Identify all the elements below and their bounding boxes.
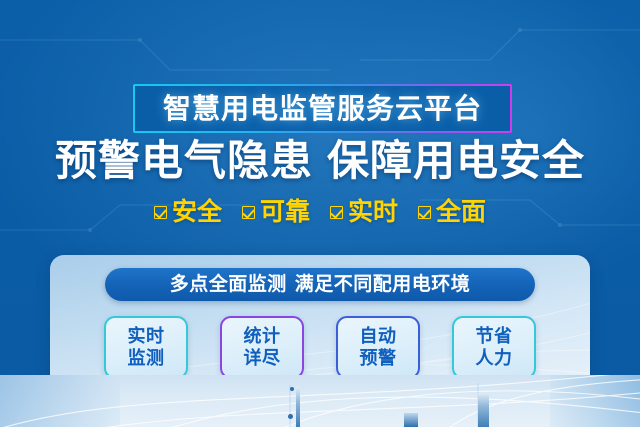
headline: 预警电气隐患保障用电安全	[0, 139, 640, 183]
pill-part-2: 满足不同配用电环境	[295, 274, 471, 295]
feature-item-comprehensive: 全面	[418, 200, 486, 225]
title-box: 智慧用电监管服务云平台	[133, 84, 512, 133]
poster-root: 智慧用电监管服务云平台 预警电气隐患保障用电安全 安全 可靠 实时 全面	[0, 0, 640, 427]
card-line-1: 自动	[360, 326, 397, 347]
card-line-2: 人力	[476, 348, 513, 369]
card-line-1: 统计	[244, 326, 281, 347]
feature-label: 可靠	[260, 200, 310, 225]
city-light-dot	[288, 414, 293, 419]
pill-part-1: 多点全面监测	[170, 274, 287, 295]
city-light-dot	[290, 387, 294, 391]
city-right-gradient	[550, 375, 640, 427]
headline-part-1: 预警电气隐患	[55, 137, 313, 184]
feature-card-automatic-alert[interactable]: 自动 预警	[336, 316, 420, 379]
checkbox-checked-icon	[154, 206, 167, 219]
feature-label: 全面	[436, 200, 486, 225]
feature-label: 实时	[348, 200, 398, 225]
feature-label: 安全	[172, 200, 222, 225]
feature-item-safety: 安全	[154, 200, 222, 225]
panel-headline-text: 多点全面监测满足不同配用电环境	[170, 275, 471, 294]
checkbox-checked-icon	[242, 206, 255, 219]
feature-item-realtime: 实时	[330, 200, 398, 225]
headline-part-2: 保障用电安全	[327, 137, 585, 184]
panel-headline-pill: 多点全面监测满足不同配用电环境	[105, 268, 535, 301]
city-tower	[296, 387, 300, 427]
city-tower	[404, 413, 418, 427]
city-tower	[478, 393, 489, 427]
feature-card-realtime-monitoring[interactable]: 实时 监测	[104, 316, 188, 379]
city-skyline-band	[0, 375, 640, 427]
card-line-1: 实时	[128, 326, 165, 347]
card-line-2: 监测	[128, 348, 165, 369]
feature-card-detailed-statistics[interactable]: 统计 详尽	[220, 316, 304, 379]
feature-card-save-manpower[interactable]: 节省 人力	[452, 316, 536, 379]
card-line-2: 详尽	[244, 348, 281, 369]
feature-list: 安全 可靠 实时 全面	[0, 200, 640, 225]
card-line-2: 预警	[360, 348, 397, 369]
platform-title: 智慧用电监管服务云平台	[163, 95, 482, 123]
title-box-inner: 智慧用电监管服务云平台	[135, 86, 510, 131]
checkbox-checked-icon	[330, 206, 343, 219]
feature-card-list: 实时 监测 统计 详尽 自动 预警 节省 人力	[104, 316, 536, 379]
checkbox-checked-icon	[418, 206, 431, 219]
card-line-1: 节省	[476, 326, 513, 347]
feature-item-reliable: 可靠	[242, 200, 310, 225]
city-left-gradient	[0, 375, 120, 427]
